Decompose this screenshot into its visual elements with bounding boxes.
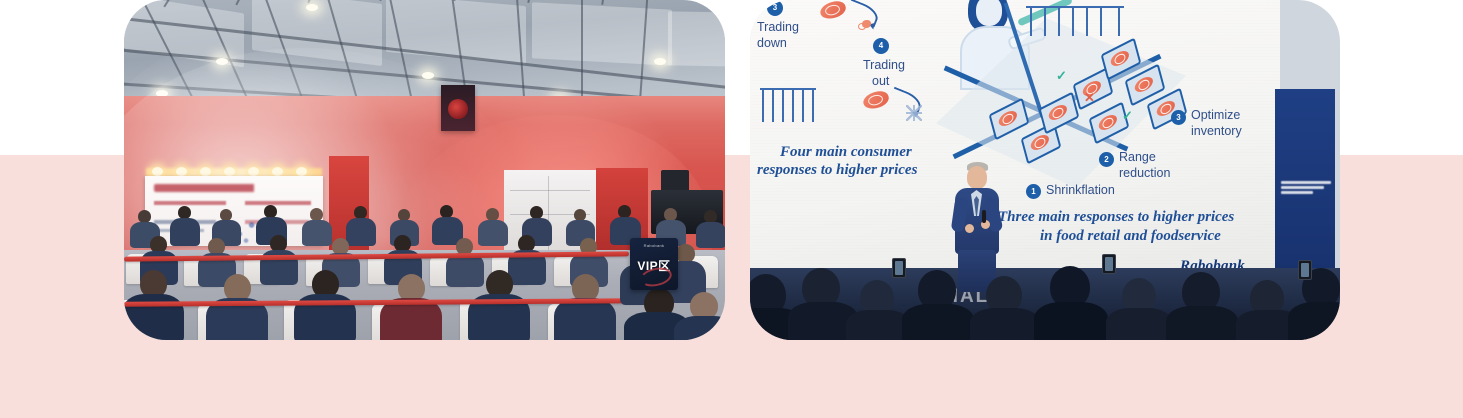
slide-label-range-reduction-line2: reduction (1119, 166, 1170, 181)
slide-label-trading-down-line1: Trading (757, 20, 799, 35)
check-icon: ✓ (1122, 108, 1133, 124)
drumstick-icon (858, 20, 871, 29)
smartphone-icon (1298, 260, 1312, 280)
stage-light (248, 167, 259, 176)
slide-label-range-reduction-line1: Range (1119, 150, 1156, 165)
sparkle-icon (906, 105, 922, 121)
stage-light (272, 167, 283, 176)
slide-number-badge: 1 (1026, 184, 1041, 199)
vip-sign-brand: Rabobank (630, 243, 678, 248)
monitor (661, 170, 689, 192)
stage-light (152, 167, 163, 176)
ceiling-lamp (654, 58, 666, 65)
slide-label-trading-out-line1: Trading (863, 58, 905, 73)
slide-label-trading-out-line2: out (872, 74, 889, 89)
slide-number-badge: 3 (767, 0, 783, 16)
slide-number-badge: 2 (1099, 152, 1114, 167)
slide-heading-consumer-line1: Four main consumer (780, 143, 912, 163)
hanging-banner (441, 85, 475, 131)
check-icon: ✓ (1056, 68, 1067, 84)
slide-number-badge: 3 (1171, 110, 1186, 125)
slide-label-optimize-inventory-line2: inventory (1191, 124, 1242, 139)
page-canvas: Rabobank VIP区 3 Trading down 4 Trading o… (0, 0, 1463, 418)
stage-light (296, 167, 307, 176)
stage-banner-text (1281, 181, 1331, 196)
smartphone-icon (1102, 254, 1116, 274)
smartphone-icon (892, 258, 906, 278)
cross-icon: ✕ (1084, 90, 1095, 106)
slide-label-shrinkflation: Shrinkflation (1046, 183, 1115, 198)
stage-light (200, 167, 211, 176)
slide-heading-consumer-line2: responses to higher prices (757, 161, 917, 181)
slide-label-trading-down-line2: down (757, 36, 787, 51)
slide-heading-retail-line2: in food retail and foodservice (1040, 227, 1221, 247)
audience-silhouettes (750, 246, 1340, 340)
vip-seat-sign: Rabobank VIP区 (630, 238, 678, 290)
stand-screen-title (154, 184, 315, 192)
fence-icon (760, 88, 816, 122)
photo-rabobank-keynote: 3 Trading down 4 Trading out Four main c… (750, 0, 1340, 340)
photo-conference-hall-audience: Rabobank VIP区 (124, 0, 725, 340)
slide-heading-retail-line1: Three main responses to higher prices (998, 208, 1234, 228)
slide-number-badge: 4 (873, 38, 889, 54)
stage-light (176, 167, 187, 176)
shelf-rail-icon (1026, 6, 1124, 36)
ceiling-lamp (306, 4, 318, 11)
stage-light (224, 167, 235, 176)
slide-label-optimize-inventory-line1: Optimize (1191, 108, 1240, 123)
